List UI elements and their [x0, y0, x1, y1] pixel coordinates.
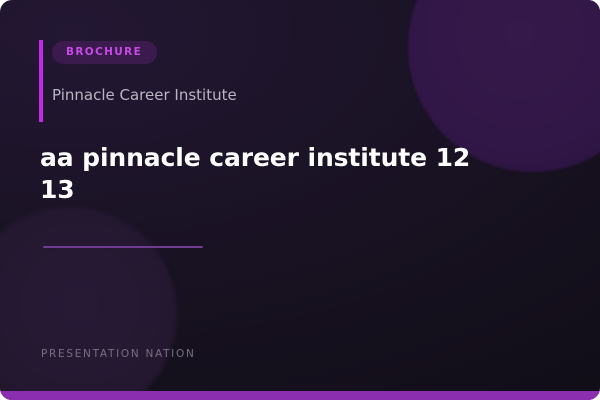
kicker-group: BROCHURE Pinnacle Career Institute — [39, 40, 237, 122]
organization-subtitle: Pinnacle Career Institute — [52, 86, 237, 105]
brochure-slide: BROCHURE Pinnacle Career Institute aa pi… — [0, 0, 600, 400]
category-badge: BROCHURE — [52, 41, 157, 64]
title-divider — [43, 246, 203, 248]
footer-brand: PRESENTATION NATION — [41, 348, 196, 360]
slide-content: BROCHURE Pinnacle Career Institute aa pi… — [0, 0, 600, 400]
bottom-accent-bar — [0, 391, 600, 400]
page-title: aa pinnacle career institute 12 13 — [40, 142, 480, 206]
